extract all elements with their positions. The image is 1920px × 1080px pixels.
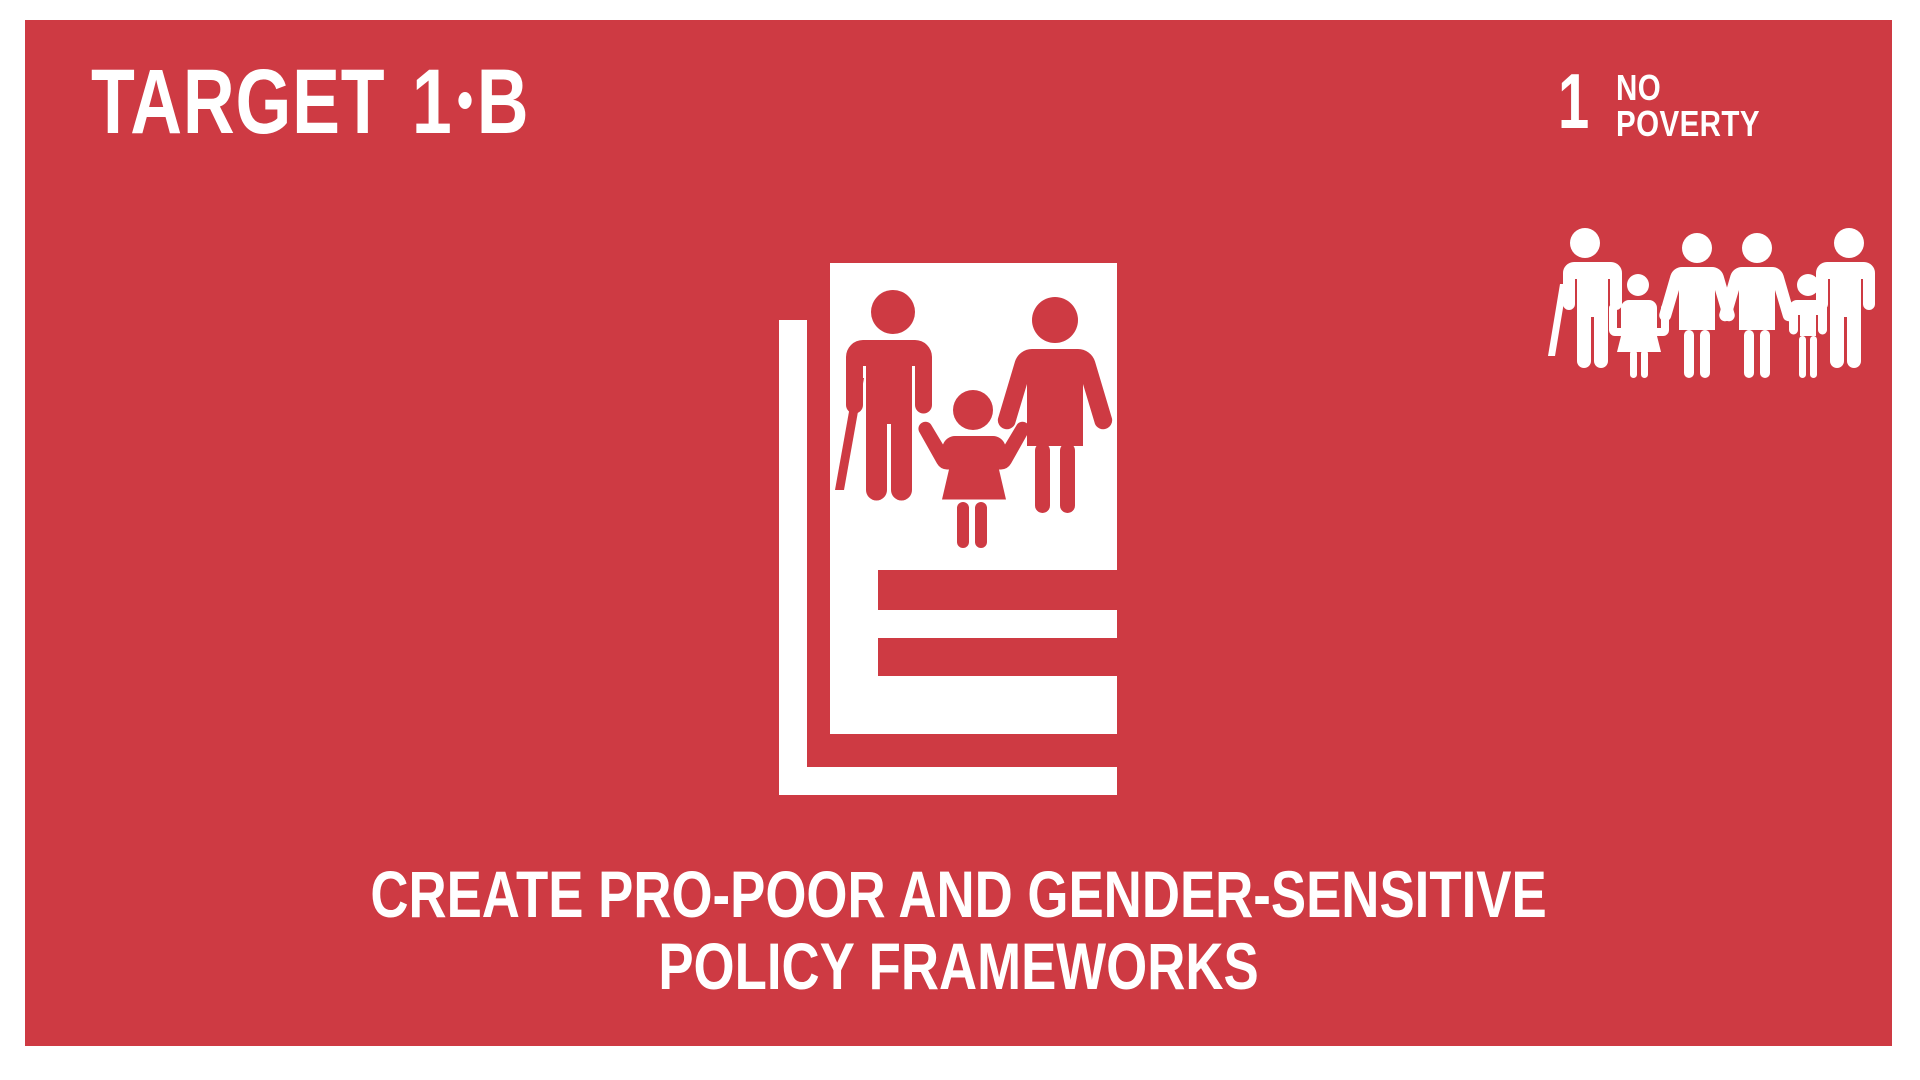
figure-woman-2: [1719, 233, 1795, 378]
target-label: TARGET: [91, 51, 385, 153]
document-text-bar-1: [878, 570, 1118, 610]
document-text-bar-2: [878, 638, 1118, 676]
red-panel: TARGET1B 1 NO POVERTY: [25, 20, 1892, 1046]
sdg-goal-name: NO POVERTY: [1616, 70, 1760, 142]
figure-man: [1816, 228, 1875, 368]
target-caption: CREATE PRO-POOR AND GENDER-SENSITIVE POL…: [25, 858, 1892, 1002]
target-separator-dot: [458, 92, 471, 109]
sdg-goal-name-line1: NO: [1616, 70, 1760, 106]
policy-document-icon: [765, 250, 1145, 810]
figure-man-with-cane: [1548, 228, 1622, 368]
sdg-goal-name-line2: POVERTY: [1616, 106, 1760, 142]
target-title: TARGET1B: [91, 56, 529, 148]
caption-line-1: CREATE PRO-POOR AND GENDER-SENSITIVE: [212, 858, 1706, 930]
caption-line-2: POLICY FRAMEWORKS: [212, 930, 1706, 1002]
sdg-goal-number: 1: [1558, 62, 1589, 140]
target-letter: B: [477, 51, 530, 153]
target-number: 1: [412, 51, 453, 153]
family-group-pictogram: [1545, 216, 1875, 386]
slide-canvas: TARGET1B 1 NO POVERTY: [0, 0, 1920, 1080]
sdg-badge: 1 NO POVERTY: [1558, 62, 1878, 192]
